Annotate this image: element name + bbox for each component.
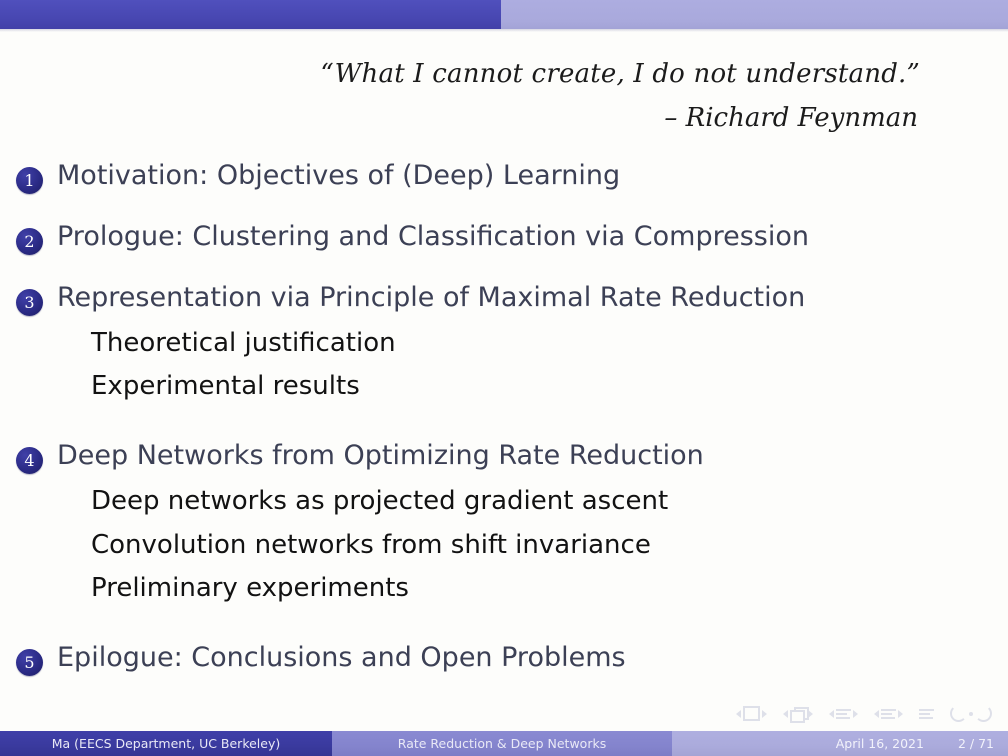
section-prev-icon[interactable] (874, 710, 879, 718)
slide-footer-bar: Ma (EECS Department, UC Berkeley) Rate R… (0, 731, 1008, 756)
quote-attribution: – Richard Feynman (60, 102, 920, 136)
outline-item-label-2: Prologue: Clustering and Classification … (57, 221, 809, 253)
forward-icon[interactable] (975, 705, 992, 722)
subsection-current-icon[interactable] (836, 709, 851, 719)
slide-header-bar (0, 0, 1008, 29)
beamer-navigation-symbols[interactable] (736, 705, 992, 722)
header-bar-shadow (0, 29, 1008, 32)
outline-item-4[interactable]: 4 Deep Networks from Optimizing Rate Red… (0, 440, 1008, 474)
outline-item-3[interactable]: 3 Representation via Principle of Maxima… (0, 282, 1008, 316)
subsection-prev-icon[interactable] (829, 710, 834, 718)
subsection-next-icon[interactable] (853, 710, 858, 718)
outline-number-badge-4: 4 (16, 447, 43, 474)
outline-item-label-3: Representation via Principle of Maximal … (57, 282, 805, 314)
frame-current-icon[interactable] (790, 707, 806, 720)
outline-item-2[interactable]: 2 Prologue: Clustering and Classificatio… (0, 221, 1008, 255)
outline-spacer (0, 561, 1008, 573)
footer-page-number: 2 / 71 (958, 736, 994, 751)
outline-spacer (0, 255, 1008, 282)
outline-spacer (0, 359, 1008, 371)
outline-spacer (0, 316, 1008, 328)
slide-current-icon[interactable] (743, 706, 760, 721)
outline-spacer (0, 604, 1008, 642)
frame-prev-icon[interactable] (783, 710, 788, 718)
footer-meta: April 16, 2021 2 / 71 (672, 731, 1008, 756)
feynman-quote-block: “What I cannot create, I do not understa… (60, 58, 920, 136)
outline-item-label-4: Deep Networks from Optimizing Rate Reduc… (57, 440, 704, 472)
outline-list: 1 Motivation: Objectives of (Deep) Learn… (0, 160, 1008, 676)
outline-number-badge-3: 3 (16, 289, 43, 316)
search-icon[interactable] (969, 712, 973, 716)
header-bar-right-block (501, 0, 1008, 29)
outline-subitem-4-2[interactable]: Convolution networks from shift invarian… (91, 530, 1008, 561)
outline-number-badge-2: 2 (16, 228, 43, 255)
slide-next-icon[interactable] (762, 710, 767, 718)
outline-subitem-3-2[interactable]: Experimental results (91, 371, 1008, 402)
slide-navigation-group[interactable] (736, 706, 767, 721)
header-bar-left-block (0, 0, 501, 29)
document-icon[interactable] (919, 709, 934, 719)
outline-number-badge-1: 1 (16, 167, 43, 194)
outline-item-5[interactable]: 5 Epilogue: Conclusions and Open Problem… (0, 642, 1008, 676)
section-current-icon[interactable] (881, 709, 896, 719)
frame-navigation-group[interactable] (783, 707, 813, 720)
outline-subitem-4-3[interactable]: Preliminary experiments (91, 573, 1008, 604)
section-navigation-group[interactable] (874, 709, 903, 719)
subsection-navigation-group[interactable] (829, 709, 858, 719)
footer-author: Ma (EECS Department, UC Berkeley) (0, 731, 332, 756)
outline-item-label-1: Motivation: Objectives of (Deep) Learnin… (57, 160, 620, 192)
outline-item-label-5: Epilogue: Conclusions and Open Problems (57, 642, 626, 674)
back-icon[interactable] (950, 705, 967, 722)
outline-spacer (0, 194, 1008, 221)
slide-prev-icon[interactable] (736, 710, 741, 718)
outline-spacer (0, 402, 1008, 440)
outline-number-badge-5: 5 (16, 649, 43, 676)
outline-spacer (0, 518, 1008, 530)
outline-item-1[interactable]: 1 Motivation: Objectives of (Deep) Learn… (0, 160, 1008, 194)
outline-spacer (0, 474, 1008, 486)
section-next-icon[interactable] (898, 710, 903, 718)
history-navigation-group[interactable] (950, 705, 992, 722)
outline-subitem-3-1[interactable]: Theoretical justification (91, 328, 1008, 359)
presentation-slide: “What I cannot create, I do not understa… (0, 0, 1008, 756)
quote-text: “What I cannot create, I do not understa… (60, 58, 920, 92)
footer-date: April 16, 2021 (836, 736, 924, 751)
outline-subitem-4-1[interactable]: Deep networks as projected gradient asce… (91, 486, 1008, 517)
document-navigation-group[interactable] (919, 709, 934, 719)
footer-title: Rate Reduction & Deep Networks (332, 731, 672, 756)
